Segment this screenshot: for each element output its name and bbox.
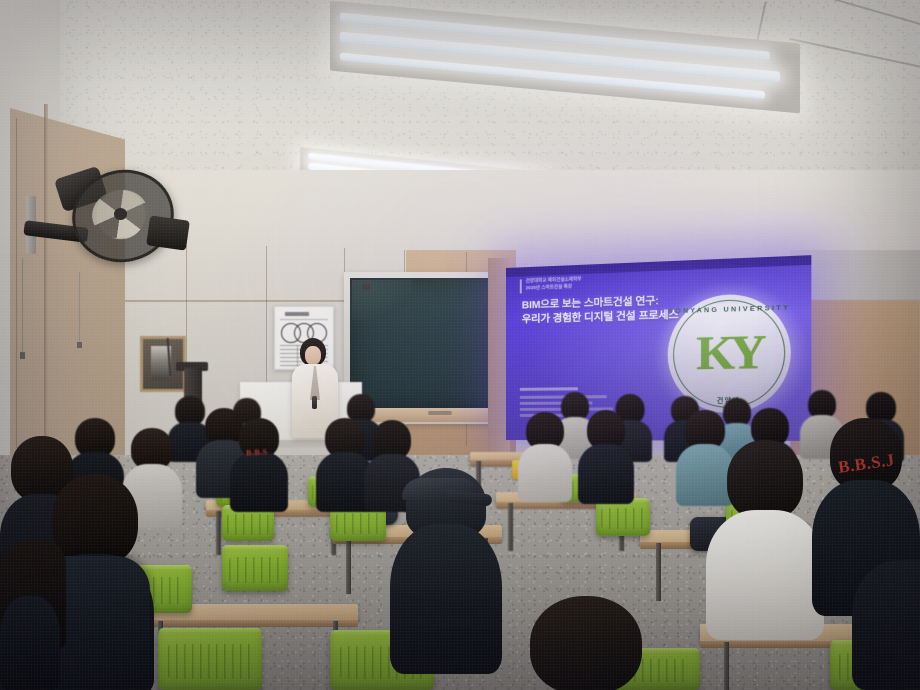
presenter-face: [305, 346, 321, 365]
fan-hub: [114, 208, 127, 220]
jacket-print: B.B.S: [246, 447, 268, 457]
audience-member: [852, 560, 920, 690]
chalkboard-magnet: [362, 284, 371, 290]
pull-cord-weight: [20, 352, 25, 359]
audience-member: [578, 410, 634, 500]
audience-member-foreground-center: [512, 596, 660, 690]
pull-cord: [79, 272, 80, 344]
poster-rule: [280, 319, 328, 320]
audience-member-white-shirt: [706, 440, 824, 630]
fan-rear-housing: [146, 215, 190, 250]
audience-member: [518, 412, 572, 498]
left-wall-wood-panel: [10, 108, 125, 458]
handheld-microphone: [312, 396, 317, 409]
chair[interactable]: [158, 628, 262, 690]
chalkboard-tray-handle: [428, 411, 452, 415]
chair[interactable]: [222, 545, 288, 591]
chalkboard-glare: [352, 280, 412, 320]
left-wall-corner-edge: [44, 104, 48, 464]
audience-member: [230, 418, 288, 508]
left-wall-panel-seam: [16, 118, 17, 448]
poster-title-line: [285, 312, 325, 316]
pull-cord: [22, 258, 23, 354]
audience-member: [0, 596, 60, 690]
pull-cord-weight: [77, 342, 82, 348]
lecture-hall-photo: KONYANG UNIVERSITY KY 건양대 건양대학교 해외건설소재학부…: [0, 0, 920, 690]
